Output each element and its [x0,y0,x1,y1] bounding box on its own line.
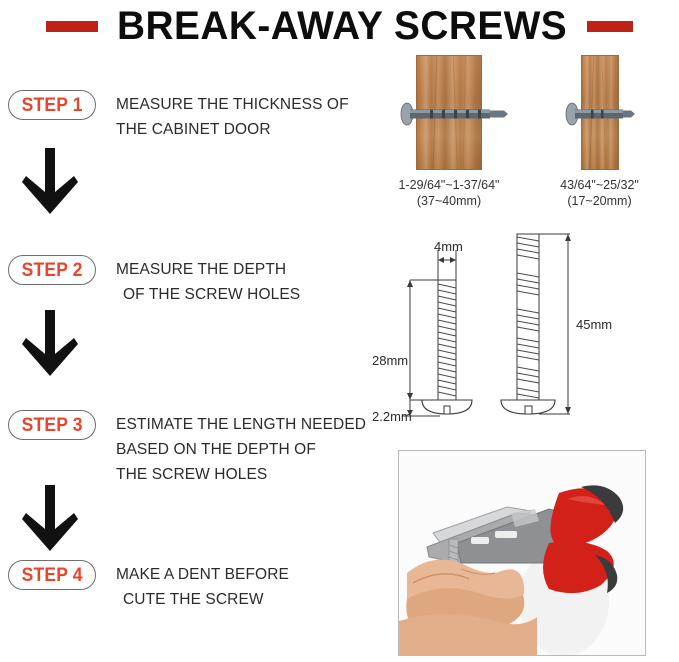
step-text-3: ESTIMATE THE LENGTH NEEDED BASED ON THE … [116,412,366,487]
step-badge-3-label: STEP 3 [21,416,82,435]
down-arrow-icon [22,310,78,376]
step-badge-2: STEP 2 [8,255,96,285]
short-screw-threads [438,284,456,396]
dim-label-short-length: 28mm [372,354,408,367]
plank-thin-imperial: 43/64"~25/32" [527,177,672,193]
flow-arrow-3 [22,485,78,551]
plank-thin-metric: (17~20mm) [527,193,672,209]
dim-label-long-length: 45mm [576,318,612,331]
screw-dimension-drawing [372,228,679,433]
step-badge-1: STEP 1 [8,90,96,120]
step-badge-4-label: STEP 4 [21,566,82,585]
illustrations-column: 1-29/64"~1-37/64" (37~40mm) [372,0,679,662]
long-screw-head [501,400,555,414]
step-text-2-line-2: OF THE SCREW HOLES [116,282,300,307]
step-text-1: MEASURE THE THICKNESS OF THE CABINET DOO… [116,92,349,142]
pliers-photo-illustration [399,451,645,655]
step-badge-3: STEP 3 [8,410,96,440]
flow-arrow-1 [22,148,78,214]
step-text-4: MAKE A DENT BEFORE CUTE THE SCREW [116,562,289,612]
step-text-1-line-2: THE CABINET DOOR [116,117,349,142]
step-text-3-line-3: THE SCREW HOLES [116,462,366,487]
plank-comparison-figure: 1-29/64"~1-37/64" (37~40mm) [372,55,679,220]
plank-figure-thick: 1-29/64"~1-37/64" (37~40mm) [374,55,524,170]
down-arrow-icon [22,485,78,551]
step-badge-1-label: STEP 1 [21,96,82,115]
screw-icon-long [374,99,524,129]
plank-caption-thin: 43/64"~25/32" (17~20mm) [527,177,672,209]
step-text-4-line-1: MAKE A DENT BEFORE [116,562,289,587]
pliers-photo [398,450,646,656]
step-badge-4: STEP 4 [8,560,96,590]
screw-icon-short [527,99,672,129]
dim-label-head-height: 2.2mm [372,410,412,423]
plank-thick-metric: (37~40mm) [374,193,524,209]
step-text-2-line-1: MEASURE THE DEPTH [116,257,300,282]
plank-figure-thin: 43/64"~25/32" (17~20mm) [527,55,672,170]
screw-dimension-figure: 4mm 28mm 2.2mm 45mm [372,228,679,433]
steps-column: STEP 1 MEASURE THE THICKNESS OF THE CABI… [0,0,372,662]
step-badge-2-label: STEP 2 [21,261,82,280]
step-text-4-line-2: CUTE THE SCREW [116,587,289,612]
flow-arrow-2 [22,310,78,376]
long-screw-threads [517,237,539,398]
step-text-3-line-1: ESTIMATE THE LENGTH NEEDED [116,412,366,437]
step-text-3-line-2: BASED ON THE DEPTH OF [116,437,366,462]
plank-caption-thick: 1-29/64"~1-37/64" (37~40mm) [374,177,524,209]
down-arrow-icon [22,148,78,214]
dim-label-diameter: 4mm [434,240,463,253]
short-screw-head [422,400,472,414]
step-text-2: MEASURE THE DEPTH OF THE SCREW HOLES [116,257,300,307]
hand [399,560,537,655]
step-text-1-line-1: MEASURE THE THICKNESS OF [116,92,349,117]
plank-thick-imperial: 1-29/64"~1-37/64" [374,177,524,193]
